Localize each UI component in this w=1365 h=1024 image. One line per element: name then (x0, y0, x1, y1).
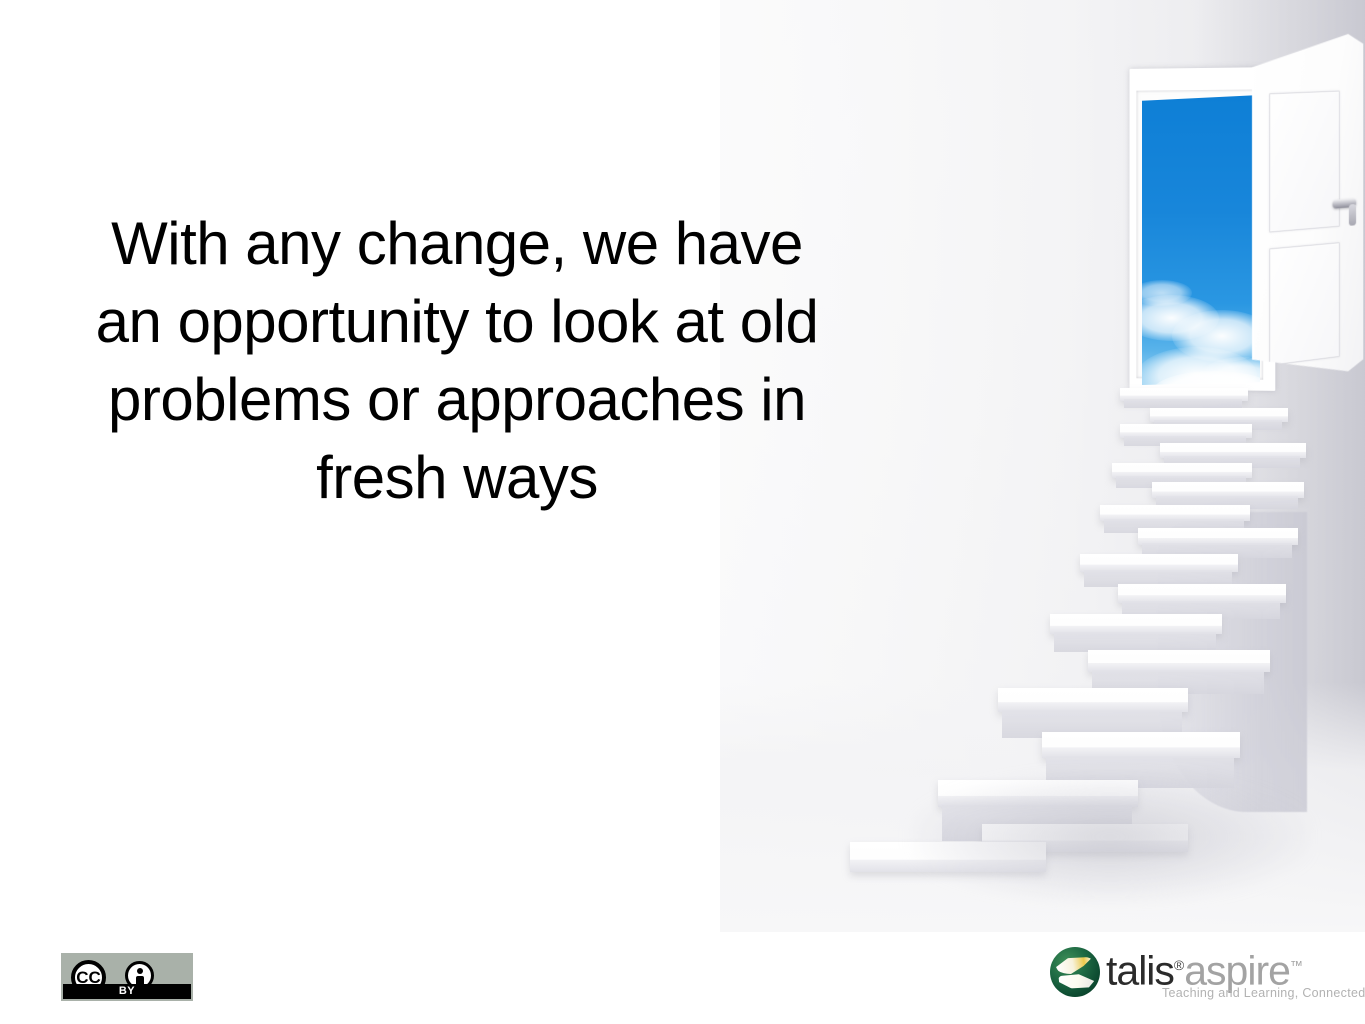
trademark-mark-icon: ™ (1290, 958, 1303, 973)
stair-tread (1088, 650, 1270, 672)
talis-emblem-icon (1050, 947, 1100, 997)
cc-by-label: BY (63, 984, 191, 999)
stair-tread (998, 688, 1188, 712)
person-head-shape (137, 968, 143, 974)
swoosh-upper-shape (1055, 954, 1095, 977)
stair-riser (1054, 632, 1216, 652)
slide-quote-text: With any change, we have an opportunity … (92, 205, 822, 517)
slide-canvas: With any change, we have an opportunity … (0, 0, 1365, 1024)
stair-tread (1042, 732, 1240, 758)
stair-riser (1124, 399, 1242, 408)
creative-commons-by-badge[interactable]: CC BY (63, 955, 191, 999)
talis-aspire-logo[interactable]: talis®aspire™ Teaching and Learning, Con… (1050, 942, 1320, 1004)
swoosh-lower-shape (1057, 971, 1095, 992)
registered-mark-icon: ® (1174, 957, 1184, 973)
stair-tread (1050, 614, 1222, 634)
staircase-floor-shadow (910, 772, 1310, 902)
brand-tagline: Teaching and Learning, Connected (1162, 986, 1365, 1000)
